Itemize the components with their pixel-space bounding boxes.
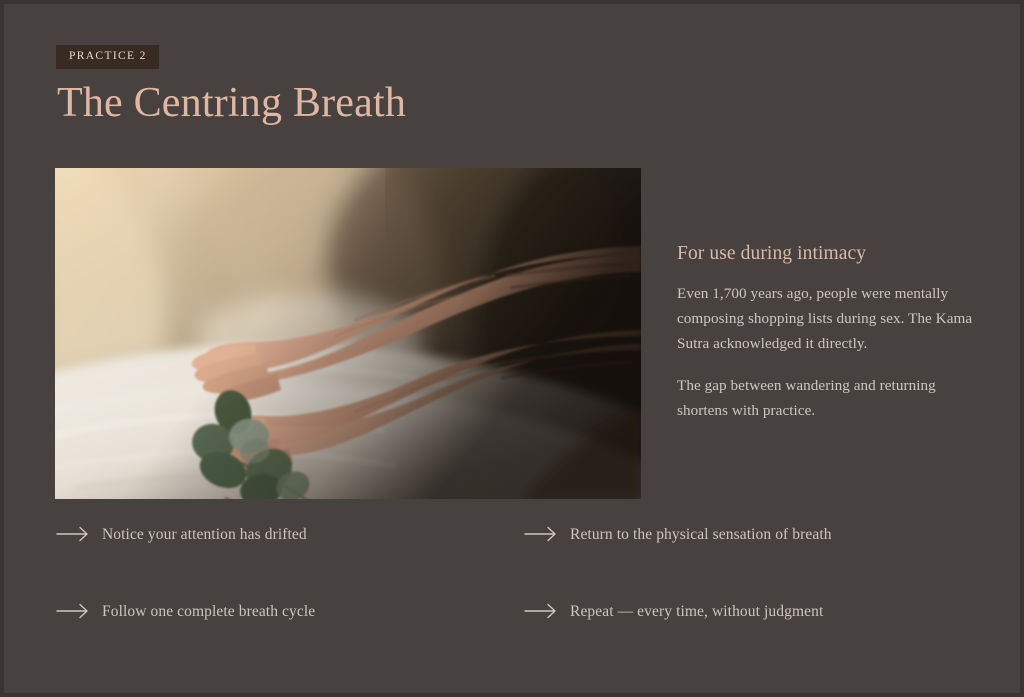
side-paragraph-2: The gap between wandering and returning … — [677, 374, 979, 423]
step-label: Notice your attention has drifted — [102, 525, 307, 544]
arrow-right-icon — [56, 525, 102, 542]
side-column: For use during intimacy Even 1,700 years… — [677, 242, 979, 424]
step-item-3: Follow one complete breath cycle — [56, 602, 524, 679]
arrow-right-icon — [524, 525, 570, 542]
arrow-right-icon — [56, 602, 102, 619]
arrow-right-icon — [524, 602, 570, 619]
page-title: The Centring Breath — [57, 81, 406, 125]
step-label: Repeat — every time, without judgment — [570, 602, 823, 621]
practice-badge: PRACTICE 2 — [56, 45, 159, 69]
hands-photo — [55, 168, 641, 499]
steps-grid: Notice your attention has drifted Return… — [56, 525, 976, 679]
side-heading: For use during intimacy — [677, 242, 979, 265]
step-item-1: Notice your attention has drifted — [56, 525, 524, 602]
step-item-2: Return to the physical sensation of brea… — [524, 525, 976, 602]
step-label: Return to the physical sensation of brea… — [570, 525, 832, 544]
slide-root: PRACTICE 2 The Centring Breath — [0, 0, 1024, 697]
step-item-4: Repeat — every time, without judgment — [524, 602, 976, 679]
side-paragraph-1: Even 1,700 years ago, people were mental… — [677, 282, 979, 356]
hands-photo-illustration — [55, 168, 641, 499]
step-label: Follow one complete breath cycle — [102, 602, 315, 621]
slide-header: PRACTICE 2 The Centring Breath — [56, 45, 406, 125]
